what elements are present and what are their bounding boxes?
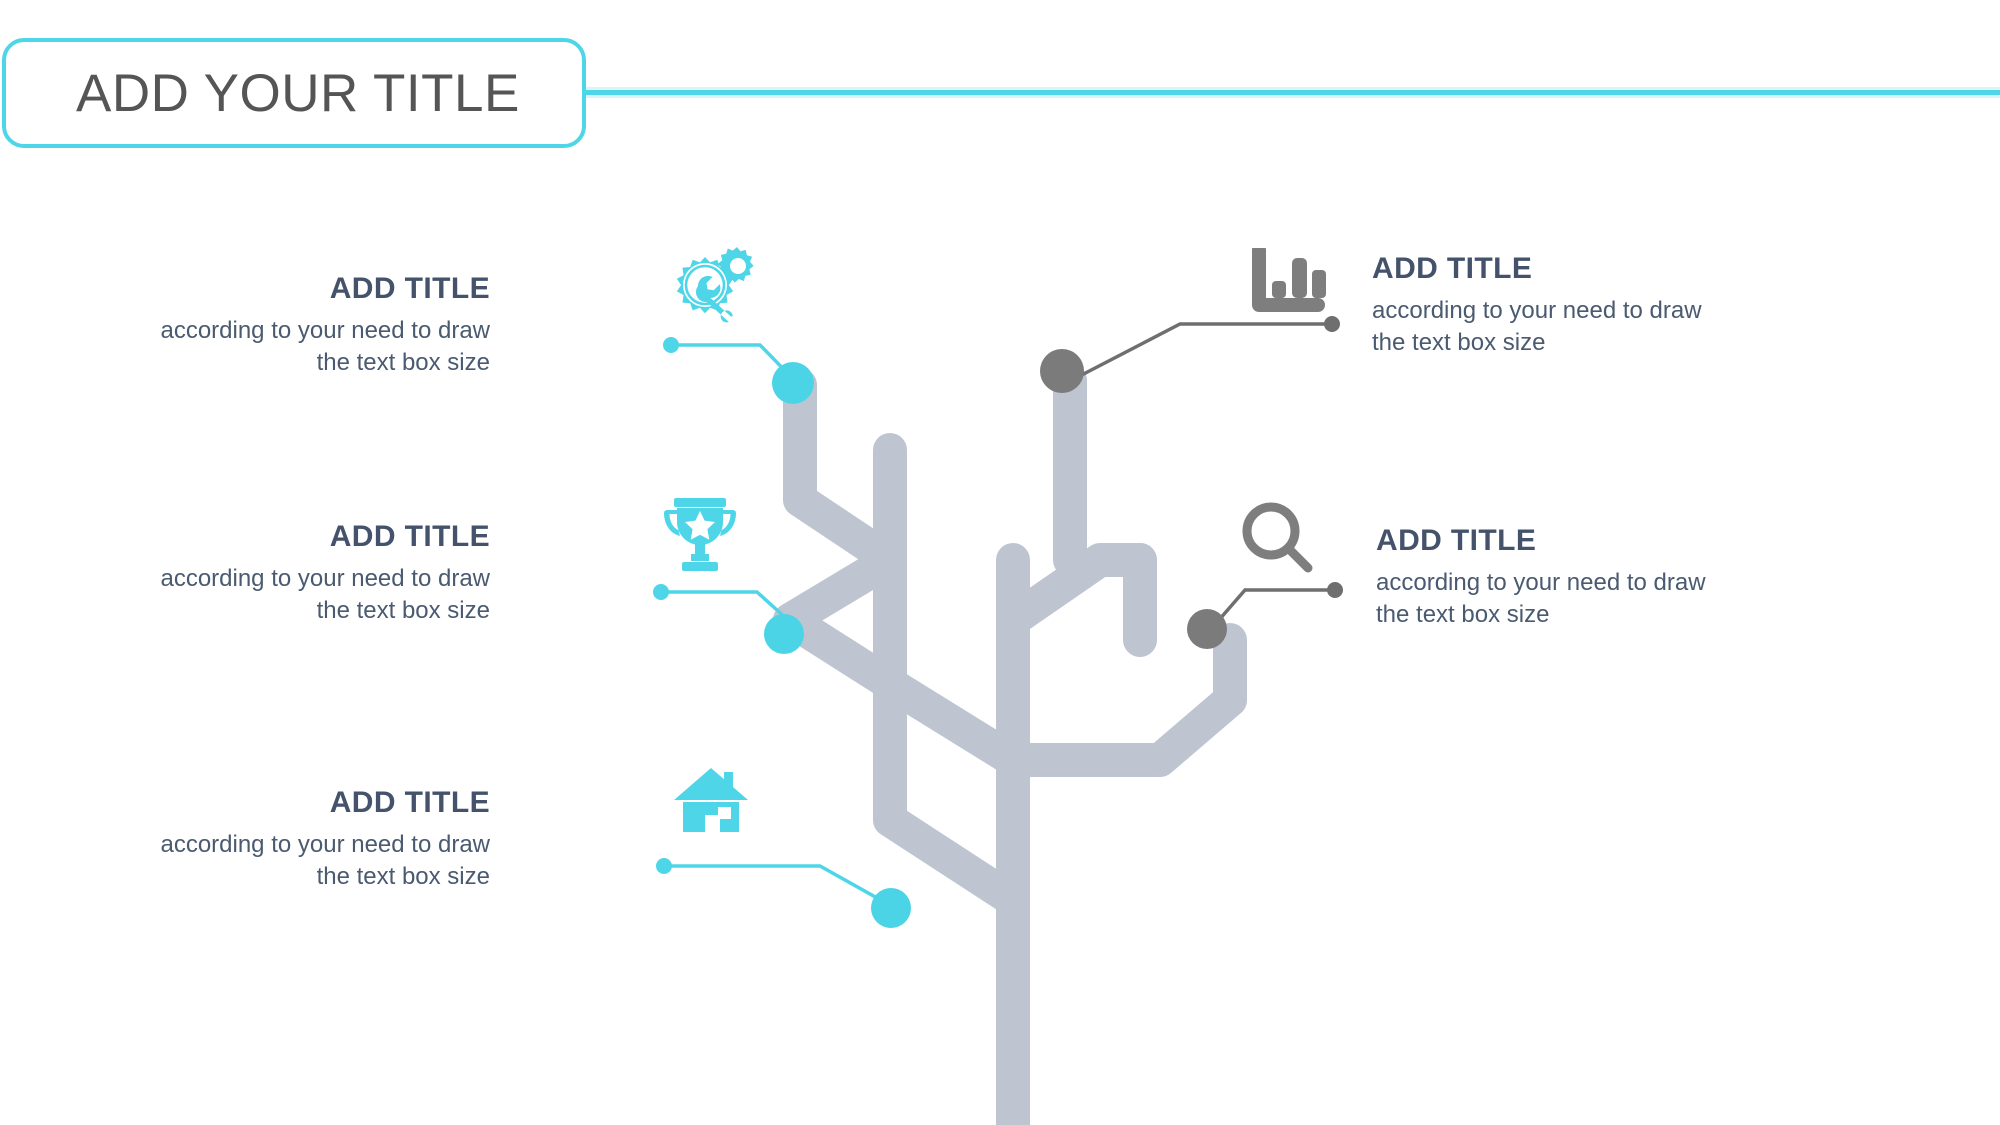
connector-trophy: [653, 584, 788, 620]
bar-chart-icon: [1248, 248, 1326, 319]
block-desc-chart-line1: according to your need to draw: [1372, 295, 1802, 327]
branch-right-mid: [1013, 560, 1140, 620]
branch-left-low-diagonal: [790, 620, 1013, 760]
block-desc-house-line2: the text box size: [60, 861, 490, 893]
connector-chart: [1072, 316, 1340, 380]
node-trophy[interactable]: [764, 614, 804, 654]
block-desc-search-line1: according to your need to draw: [1376, 567, 1806, 599]
block-title-chart: ADD TITLE: [1372, 252, 1802, 285]
gear-wrench-icon: [665, 245, 757, 328]
connector-line-search: [1212, 590, 1334, 628]
branch-lower-left: [890, 720, 1013, 900]
block-desc-trophy-line2: the text box size: [60, 595, 490, 627]
title-divider-rule: [580, 90, 2000, 95]
connector-house: [656, 858, 895, 908]
text-block-search: ADD TITLE according to your need to draw…: [1376, 524, 1806, 630]
connector-endpoint-chart: [1324, 316, 1340, 332]
connector-endpoint-gear: [663, 337, 679, 353]
block-desc-gear-line1: according to your need to draw: [60, 315, 490, 347]
house-icon: [674, 766, 748, 837]
connector-search: [1212, 582, 1343, 628]
node-search[interactable]: [1187, 609, 1227, 649]
text-block-trophy: ADD TITLE according to your need to draw…: [60, 520, 490, 626]
text-block-house: ADD TITLE according to your need to draw…: [60, 786, 490, 892]
branch-right-low: [1013, 700, 1230, 760]
node-gear[interactable]: [772, 362, 814, 404]
connector-endpoint-house: [656, 858, 672, 874]
block-title-house: ADD TITLE: [60, 786, 490, 819]
block-title-gear: ADD TITLE: [60, 272, 490, 305]
tree-branches: [790, 380, 1230, 1125]
connector-line-chart: [1072, 324, 1331, 380]
block-title-trophy: ADD TITLE: [60, 520, 490, 553]
text-block-gear: ADD TITLE according to your need to draw…: [60, 272, 490, 378]
block-desc-trophy-line1: according to your need to draw: [60, 563, 490, 595]
node-house[interactable]: [871, 888, 911, 928]
page-title: ADD YOUR TITLE: [6, 63, 520, 124]
block-desc-gear-line2: the text box size: [60, 347, 490, 379]
node-chart[interactable]: [1040, 349, 1084, 393]
title-box[interactable]: ADD YOUR TITLE: [2, 38, 586, 148]
connector-endpoint-trophy: [653, 584, 669, 600]
header: ADD YOUR TITLE: [0, 0, 2000, 160]
connector-line-gear: [672, 345, 798, 384]
connector-endpoint-search: [1327, 582, 1343, 598]
block-desc-house-line1: according to your need to draw: [60, 829, 490, 861]
connector-line-trophy: [662, 592, 788, 620]
branch-left-upper: [800, 385, 890, 560]
connector-line-house: [665, 866, 895, 908]
trophy-icon: [660, 498, 740, 579]
magnifier-icon: [1240, 500, 1316, 581]
block-desc-chart-line2: the text box size: [1372, 327, 1802, 359]
connector-gear: [663, 337, 798, 384]
block-desc-search-line2: the text box size: [1376, 599, 1806, 631]
branch-left-joint: [790, 560, 890, 620]
block-title-search: ADD TITLE: [1376, 524, 1806, 557]
text-block-chart: ADD TITLE according to your need to draw…: [1372, 252, 1802, 358]
